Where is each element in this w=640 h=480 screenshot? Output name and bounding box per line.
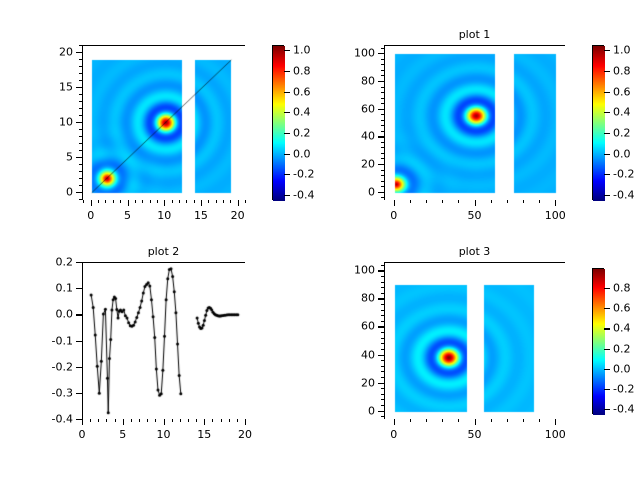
plot-title-plot3: plot 3 [384, 245, 565, 258]
tick-mark [381, 388, 384, 389]
tick-mark [491, 419, 492, 422]
figure-canvas: 05101520051015201.00.80.60.40.20.0-0.2-0… [0, 0, 640, 480]
tick-mark [458, 419, 459, 422]
subplot-plot3: plot 30204060801000501000.80.60.40.20.0-… [0, 0, 640, 480]
colorbar-tick-label-plot3-3: 0.2 [613, 342, 631, 355]
colorbar-tick-label-plot3-0: 0.8 [613, 282, 631, 295]
ytick-label-plot3-4: 80 [361, 292, 375, 305]
tick-mark [381, 287, 384, 288]
tick-mark [381, 276, 384, 277]
tick-mark [381, 377, 384, 378]
tick-mark [381, 360, 384, 361]
tick-mark [381, 298, 384, 299]
ytick-label-plot3-5: 100 [354, 264, 375, 277]
tick-mark [523, 419, 524, 422]
tick-mark [381, 326, 384, 327]
plot-area-plot3[interactable] [385, 263, 566, 420]
tick-mark [381, 265, 384, 266]
ytick-label-plot3-0: 0 [368, 404, 375, 417]
tick-mark [507, 419, 508, 422]
colorbar-tick-label-plot3-6: -0.4 [613, 402, 634, 415]
colorbar-tick-label-plot3-5: -0.2 [613, 382, 634, 395]
tick-mark [381, 304, 384, 305]
tick-mark [604, 369, 610, 370]
colorbar-tick-label-plot3-2: 0.4 [613, 322, 631, 335]
axes-frame-plot3 [384, 262, 565, 419]
tick-mark [475, 419, 476, 422]
tick-mark [394, 419, 395, 422]
ytick-label-plot3-1: 20 [361, 376, 375, 389]
tick-mark [604, 389, 610, 390]
colorbar-tick-label-plot3-4: 0.0 [613, 362, 631, 375]
tick-mark [381, 343, 384, 344]
ytick-label-plot3-2: 40 [361, 348, 375, 361]
tick-mark [381, 405, 384, 406]
tick-mark [381, 321, 384, 322]
tick-mark [381, 416, 384, 417]
colorbar-gradient-plot3 [593, 269, 605, 415]
tick-mark [604, 409, 610, 410]
tick-mark [604, 308, 610, 309]
tick-mark [381, 293, 384, 294]
tick-mark [381, 270, 384, 271]
tick-mark [381, 411, 384, 412]
tick-mark [381, 349, 384, 350]
tick-mark [410, 419, 411, 422]
xtick-label-plot3-1: 50 [468, 428, 482, 441]
tick-mark [381, 310, 384, 311]
tick-mark [381, 394, 384, 395]
tick-mark [381, 338, 384, 339]
tick-mark [604, 288, 610, 289]
tick-mark [381, 282, 384, 283]
colorbar-tick-label-plot3-1: 0.6 [613, 302, 631, 315]
tick-mark [381, 383, 384, 384]
tick-mark [539, 419, 540, 422]
tick-mark [442, 419, 443, 422]
tick-mark [604, 328, 610, 329]
tick-mark [381, 315, 384, 316]
tick-mark [381, 355, 384, 356]
tick-mark [426, 419, 427, 422]
tick-mark [604, 349, 610, 350]
tick-mark [381, 371, 384, 372]
colorbar-plot3 [592, 268, 604, 414]
tick-mark [381, 399, 384, 400]
tick-mark [381, 366, 384, 367]
tick-mark [555, 419, 556, 422]
xtick-label-plot3-2: 100 [545, 428, 566, 441]
xtick-label-plot3-0: 0 [390, 428, 397, 441]
ytick-label-plot3-3: 60 [361, 320, 375, 333]
tick-mark [381, 332, 384, 333]
